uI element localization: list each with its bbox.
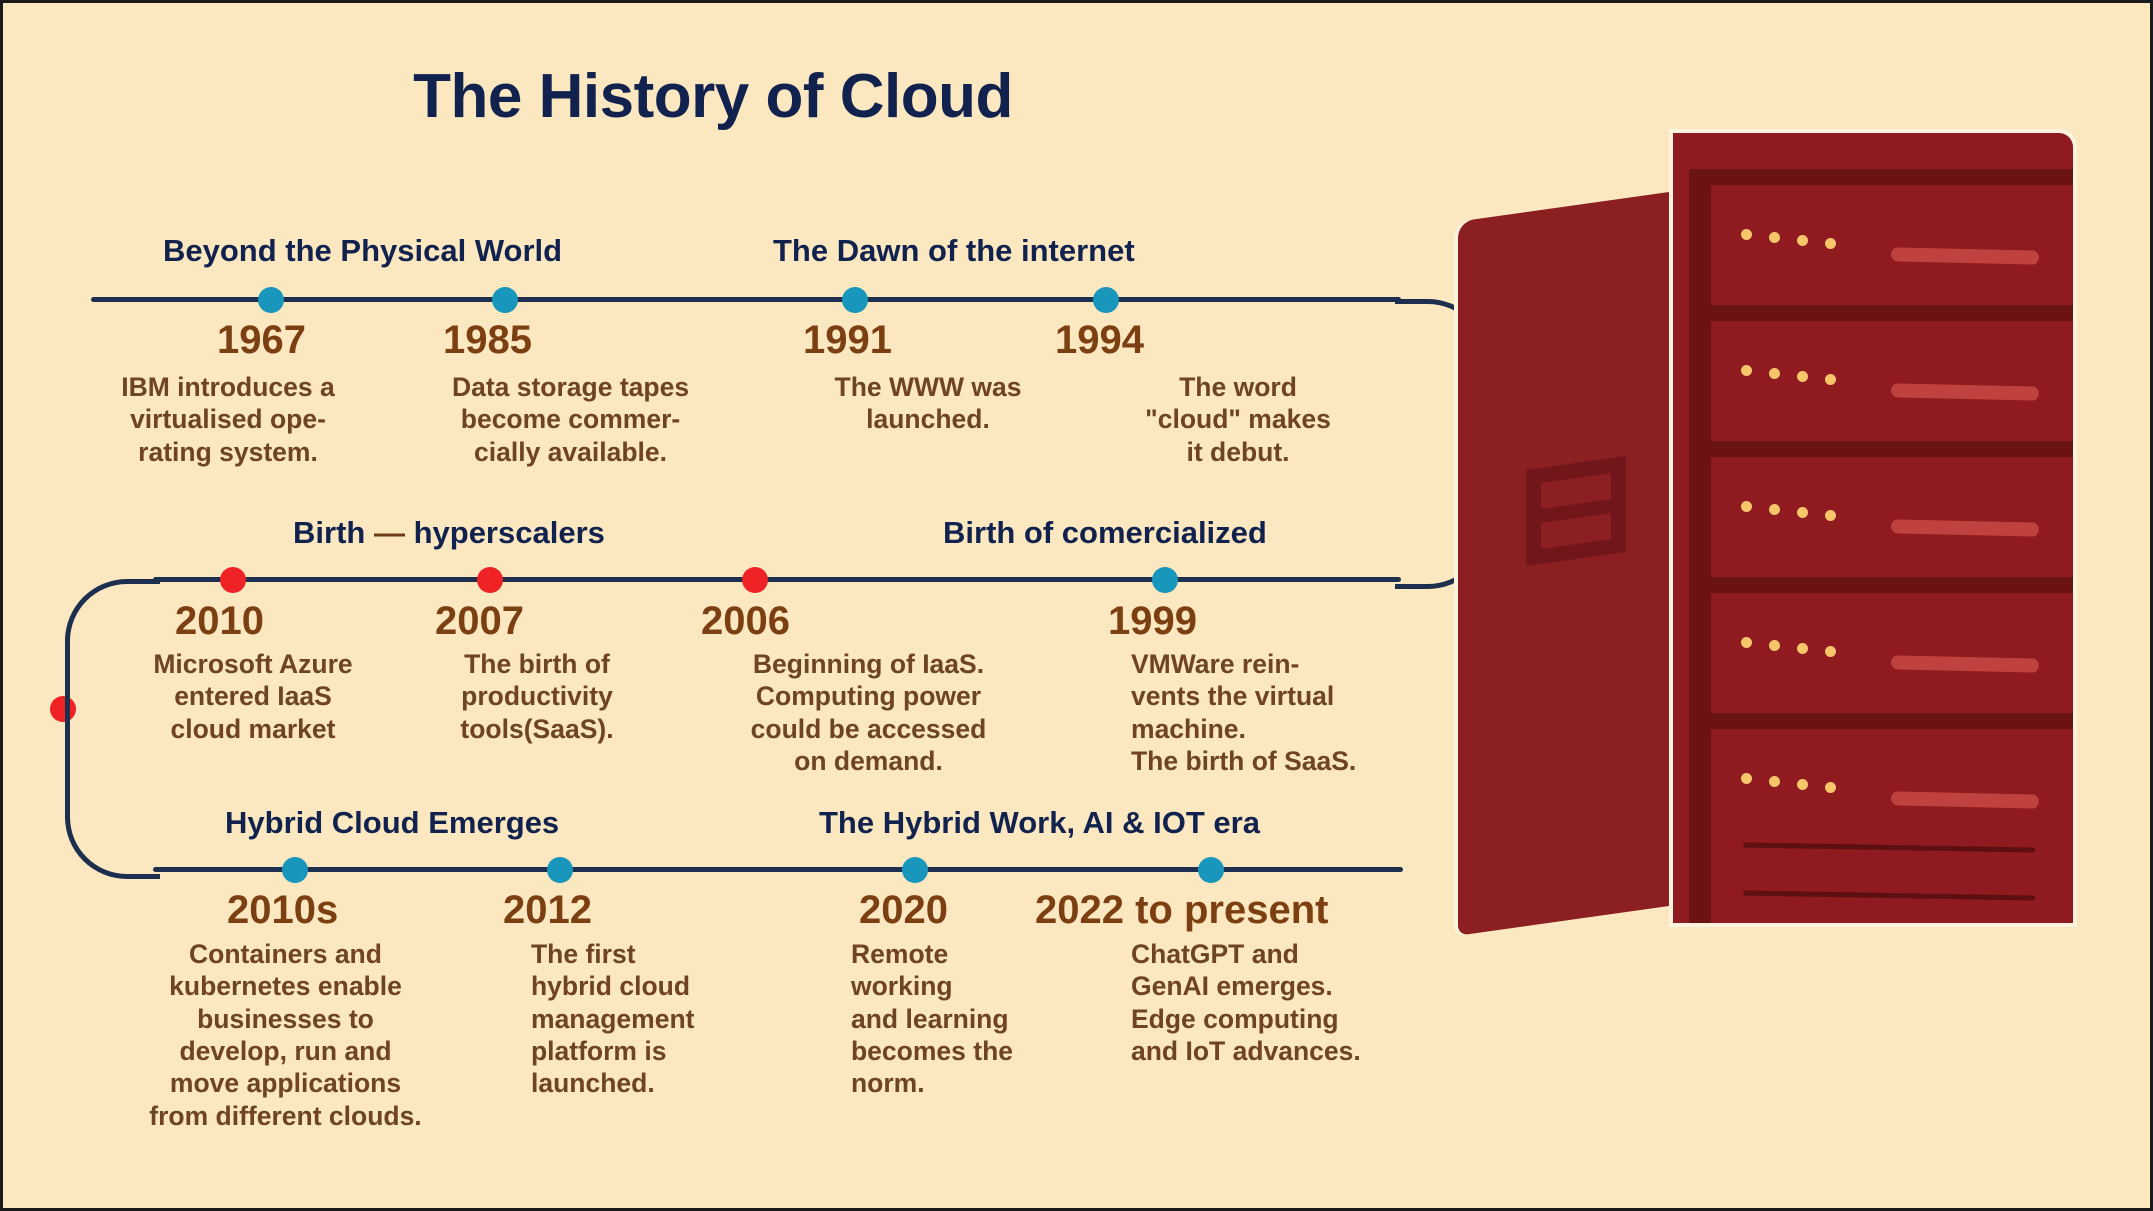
timeline-dot-2006[interactable] — [742, 567, 768, 593]
server-led-icon — [1741, 773, 1752, 784]
event-text-1994: The word "cloud" makes it debut. — [1093, 371, 1383, 468]
server-tower-illustration — [1458, 133, 2108, 973]
year-2010s: 2010s — [227, 888, 338, 933]
section-header-beyond-physical-world: Beyond the Physical World — [163, 233, 562, 269]
server-slot-icon — [1891, 383, 2039, 400]
timeline-dot-1999[interactable] — [1152, 567, 1178, 593]
timeline-dot-2010s[interactable] — [282, 857, 308, 883]
server-bay-3 — [1711, 441, 2073, 559]
timeline-dot-2022[interactable] — [1198, 857, 1224, 883]
em-dash-glyph: — — [374, 515, 405, 550]
timeline-dot-2020[interactable] — [902, 857, 928, 883]
server-vent-line — [1743, 890, 2035, 900]
event-text-2010: Microsoft Azure entered IaaS cloud marke… — [98, 648, 408, 745]
server-led-icon — [1825, 782, 1836, 793]
server-led-icon — [1769, 776, 1780, 787]
year-1985: 1985 — [443, 318, 532, 363]
event-text-2006: Beginning of IaaS. Computing power could… — [681, 648, 1056, 777]
timeline-dot-1991[interactable] — [842, 287, 868, 313]
year-1967: 1967 — [217, 318, 306, 363]
event-text-1991: The WWW was launched. — [783, 371, 1073, 436]
server-led-icon — [1797, 779, 1808, 790]
event-text-1967: IBM introduces a virtualised ope- rating… — [63, 371, 393, 468]
server-slot-icon — [1891, 655, 2039, 672]
server-led-icon — [1825, 238, 1836, 249]
page-title: The History of Cloud — [3, 61, 1423, 132]
server-led-icon — [1741, 365, 1752, 376]
event-text-2010s: Containers and kubernetes enable busines… — [73, 938, 498, 1132]
section-header-hybrid-cloud-emerges: Hybrid Cloud Emerges — [225, 805, 559, 841]
timeline-rail-row-1 — [91, 297, 1401, 302]
server-led-icon — [1769, 504, 1780, 515]
server-led-icon — [1825, 374, 1836, 385]
section-header-birth-label: Birth — [293, 515, 365, 550]
server-bay-2 — [1711, 305, 2073, 423]
timeline-dot-2007[interactable] — [477, 567, 503, 593]
year-1991: 1991 — [803, 318, 892, 363]
year-2006: 2006 — [701, 599, 790, 644]
timeline-dot-2010[interactable] — [220, 567, 246, 593]
year-1994: 1994 — [1055, 318, 1144, 363]
timeline-dot-1985[interactable] — [492, 287, 518, 313]
section-header-birth-hyperscalers: Birth — hyperscalers — [293, 515, 605, 551]
server-led-icon — [1797, 507, 1808, 518]
year-2010: 2010 — [175, 599, 264, 644]
timeline-dot-1967[interactable] — [258, 287, 284, 313]
server-led-icon — [1797, 643, 1808, 654]
server-bay-5 — [1711, 713, 2073, 831]
year-1999: 1999 — [1108, 599, 1197, 644]
server-bay-1 — [1711, 169, 2073, 287]
timeline-rail-row-2 — [153, 577, 1401, 582]
server-slot-icon — [1891, 791, 2039, 808]
event-text-1999: VMWare rein- vents the virtual machine. … — [1131, 648, 1461, 777]
server-slot-icon — [1891, 519, 2039, 536]
server-led-icon — [1825, 510, 1836, 521]
year-2007: 2007 — [435, 599, 524, 644]
timeline-dot-1994[interactable] — [1093, 287, 1119, 313]
event-text-2022: ChatGPT and GenAI emerges. Edge computin… — [1131, 938, 1461, 1067]
server-vertical-rail — [1689, 169, 1711, 923]
server-slot-icon — [1891, 247, 2039, 264]
event-text-2012: The first hybrid cloud management platfo… — [531, 938, 811, 1100]
server-front-bays — [1673, 133, 2073, 923]
timeline-dot-2012[interactable] — [547, 857, 573, 883]
server-led-icon — [1741, 637, 1752, 648]
event-text-2020: Remote working and learning becomes the … — [851, 938, 1111, 1100]
server-led-icon — [1741, 229, 1752, 240]
server-led-icon — [1825, 646, 1836, 657]
event-text-2007: The birth of productivity tools(SaaS). — [403, 648, 671, 745]
year-2020: 2020 — [859, 888, 948, 933]
server-bay-4 — [1711, 577, 2073, 695]
server-led-icon — [1797, 371, 1808, 382]
year-2012: 2012 — [503, 888, 592, 933]
year-2022-to-present: 2022 to present — [1035, 888, 1328, 933]
server-led-icon — [1797, 235, 1808, 246]
server-side-panel — [1458, 191, 1676, 936]
server-led-icon — [1769, 640, 1780, 651]
infographic-canvas: The History of Cloud Beyond the Physical… — [0, 0, 2153, 1211]
server-led-icon — [1769, 232, 1780, 243]
server-logo-icon — [1526, 456, 1626, 566]
server-led-icon — [1769, 368, 1780, 379]
server-vent-line — [1743, 842, 2035, 852]
section-header-hyperscalers-label: hyperscalers — [414, 515, 605, 550]
section-header-birth-commercialized: Birth of comercialized — [943, 515, 1267, 551]
event-text-1985: Data storage tapes become commer- cially… — [398, 371, 743, 468]
section-header-hybrid-work-ai-iot: The Hybrid Work, AI & IOT era — [819, 805, 1260, 841]
section-header-dawn-of-internet: The Dawn of the internet — [773, 233, 1135, 269]
server-led-icon — [1741, 501, 1752, 512]
